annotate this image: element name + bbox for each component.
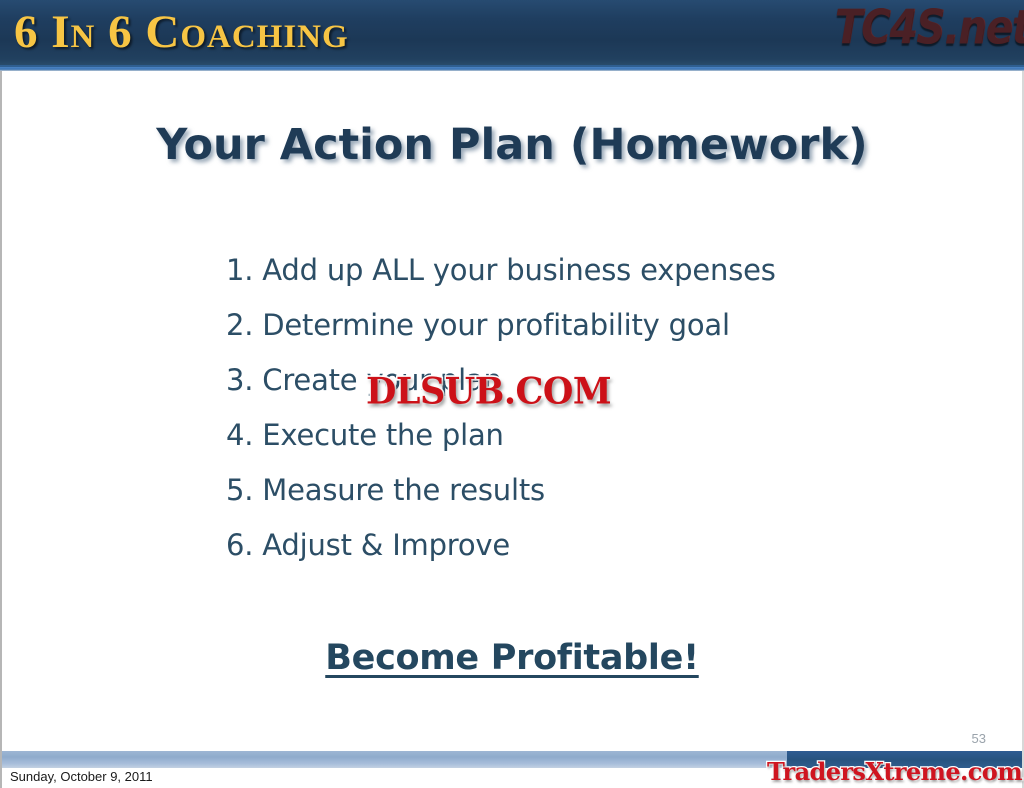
call-to-action-row: Become Profitable!: [0, 638, 1024, 678]
brand-title: 6 In 6 Coaching: [14, 5, 349, 59]
slide-header-band: 6 In 6 Coaching TC4S.net: [0, 0, 1024, 67]
list-item: 5. Measure the results: [226, 463, 946, 518]
tc4s-logo: TC4S.net: [835, 1, 1024, 55]
footer-date: Sunday, October 9, 2011: [10, 769, 153, 784]
tradersxtreme-logo: TradersXtreme.com: [767, 757, 1022, 786]
page-number: 53: [972, 731, 986, 746]
list-item: 2. Determine your profitability goal: [226, 298, 946, 353]
call-to-action-text: Become Profitable!: [325, 638, 698, 678]
presentation-slide: 6 In 6 Coaching TC4S.net Your Action Pla…: [0, 0, 1024, 788]
list-item: 6. Adjust & Improve: [226, 518, 946, 573]
list-item: 4. Execute the plan: [226, 408, 946, 463]
dlsub-watermark: DLSUB.COM: [366, 370, 611, 413]
page-title: Your Action Plan (Homework): [0, 120, 1024, 170]
list-item: 1. Add up ALL your business expenses: [226, 243, 946, 298]
